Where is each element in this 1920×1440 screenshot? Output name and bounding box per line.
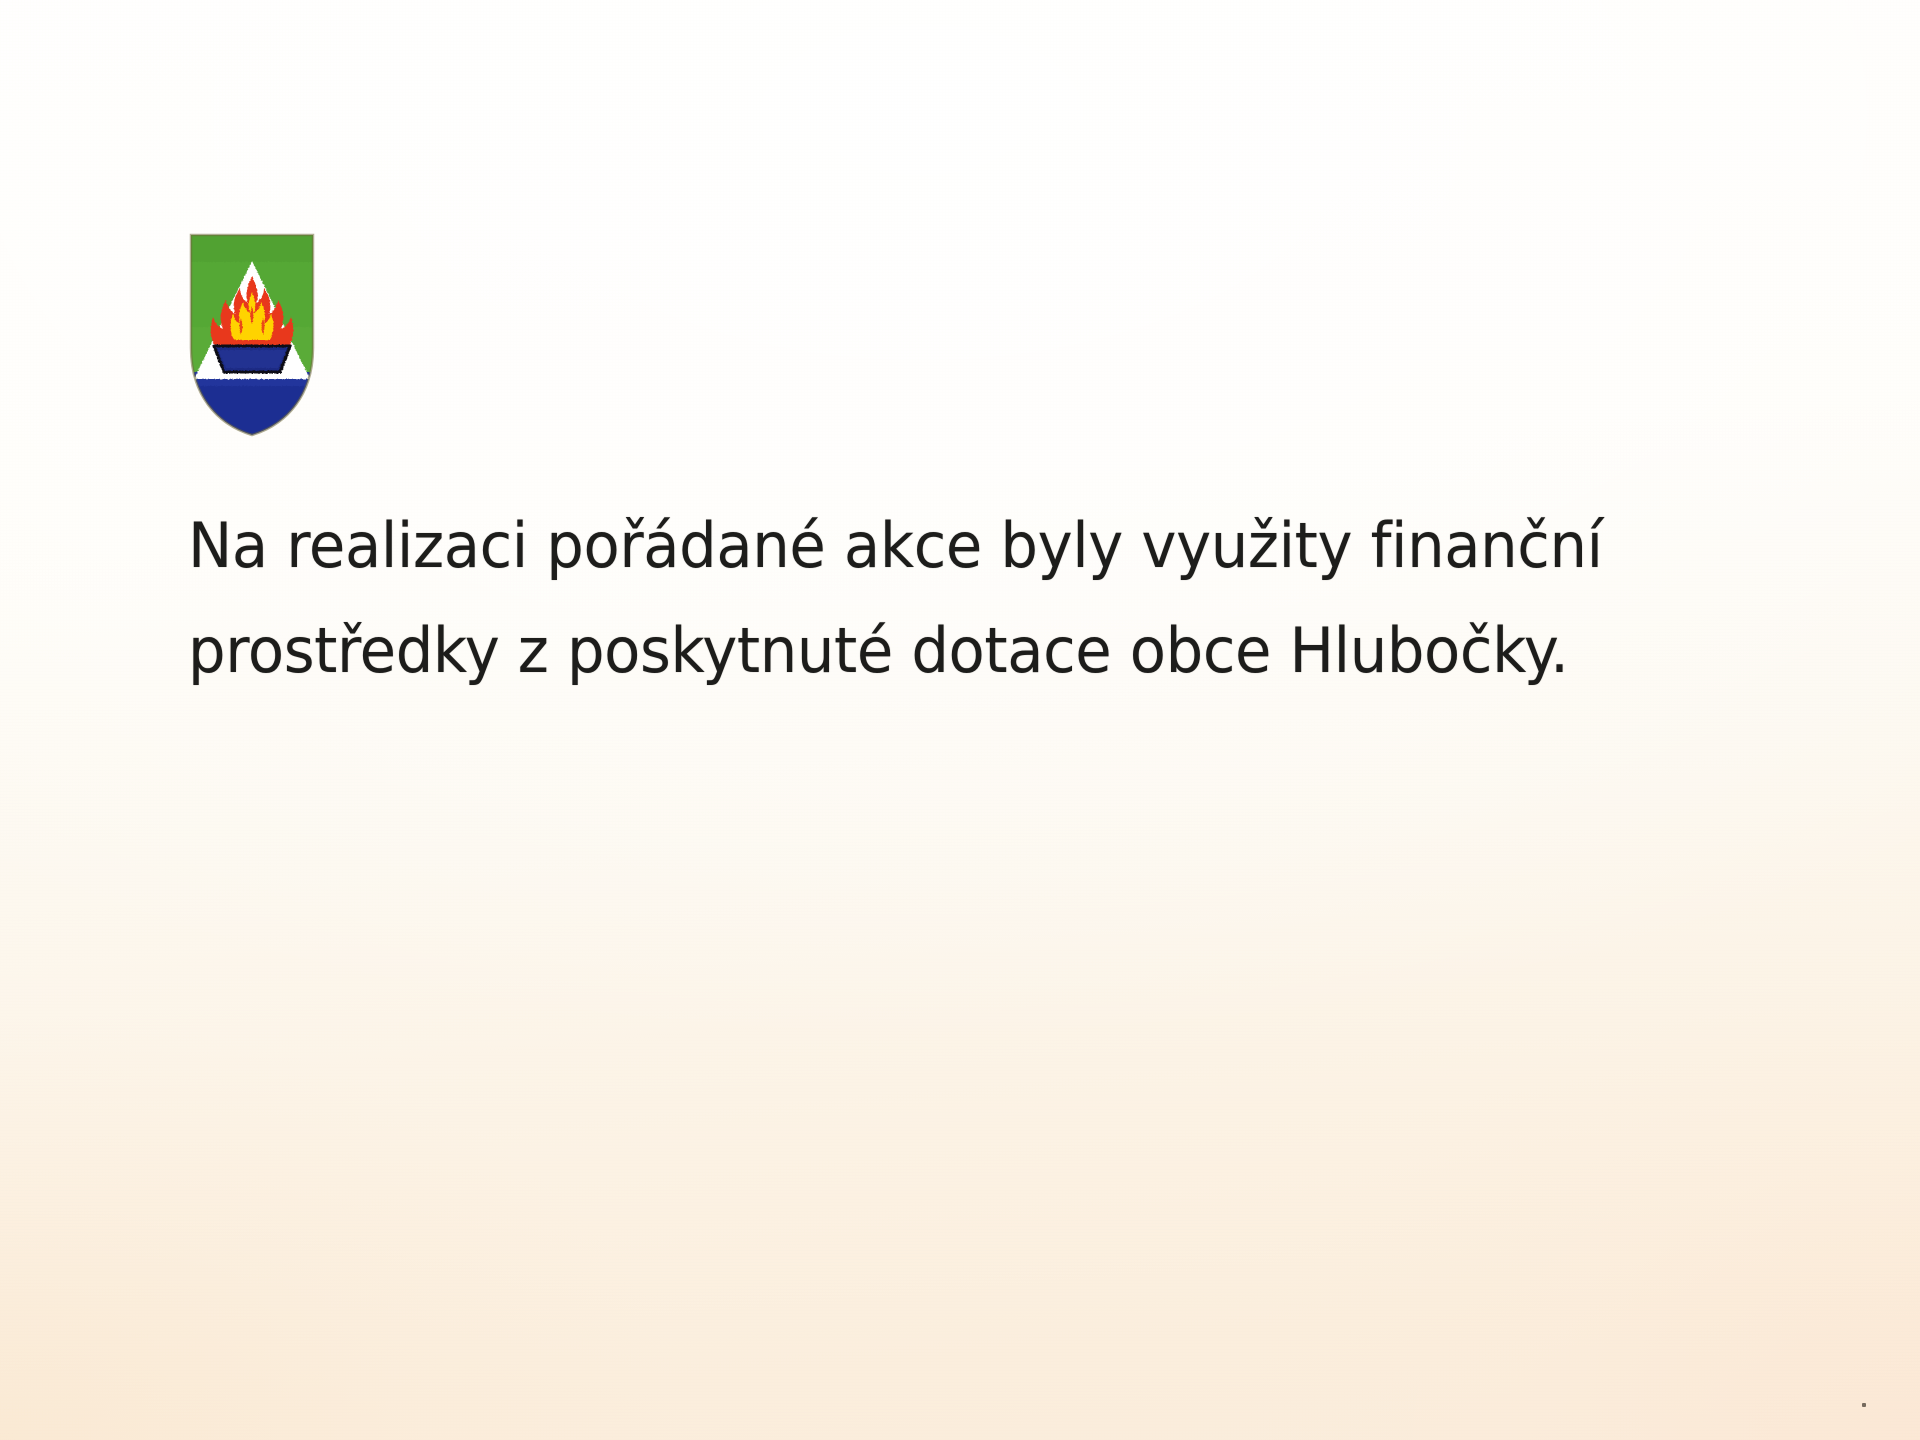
- coat-of-arms-icon: [188, 232, 316, 438]
- shield-body: [188, 232, 316, 438]
- coat-of-arms-svg: [188, 232, 316, 438]
- slide-background: [0, 0, 1920, 1440]
- vessel-bowl: [214, 346, 290, 372]
- caption-text-block: Na realizaci pořádané akce byly využity …: [188, 493, 1808, 703]
- caption-line-1: Na realizaci pořádané akce byly využity …: [188, 493, 1735, 598]
- caption-line-2: prostředky z poskytnuté dotace obce Hlub…: [188, 598, 1735, 703]
- dust-speck: [1862, 1403, 1866, 1407]
